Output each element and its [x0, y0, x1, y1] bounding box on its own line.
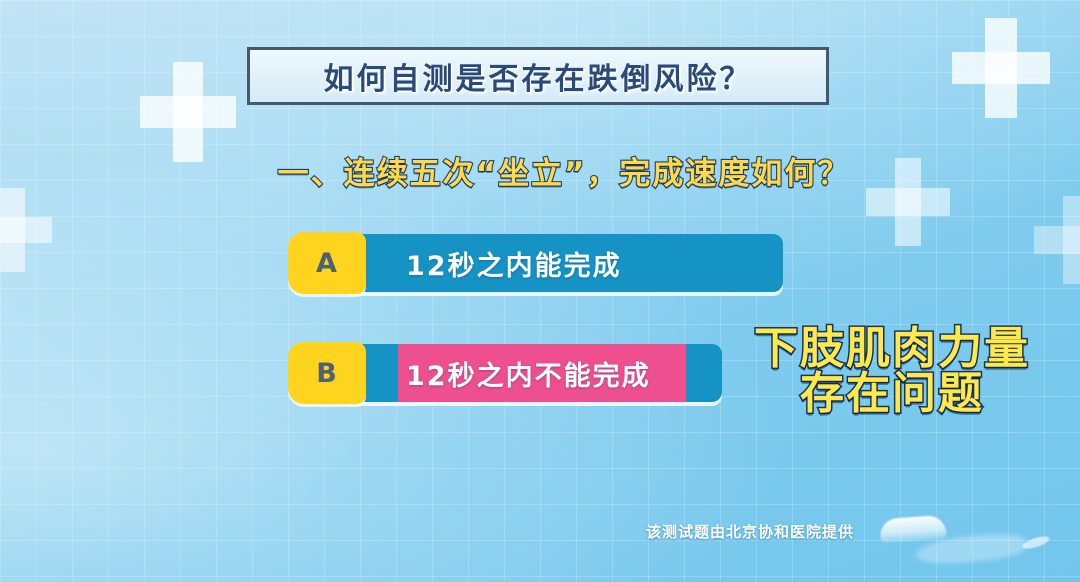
option-bar-b: 12秒之内不能完成	[350, 344, 722, 402]
medical-cross-icon	[0, 188, 52, 272]
answer-line-2: 存在问题	[712, 371, 1072, 416]
medical-cross-icon	[952, 18, 1050, 118]
cloud-shape	[1021, 534, 1050, 551]
source-caption: 该测试题由北京协和医院提供	[560, 521, 940, 542]
option-bar-a: 12秒之内能完成	[350, 234, 783, 292]
answer-line-1: 下肢肌肉力量	[754, 323, 1030, 374]
option-letter-b: B	[316, 358, 338, 389]
medical-cross-icon	[1034, 196, 1080, 284]
option-text-b: 12秒之内不能完成	[406, 344, 651, 402]
option-badge-a: A	[288, 232, 366, 294]
option-row-a[interactable]: A 12秒之内能完成	[288, 232, 783, 294]
medical-cross-icon	[140, 62, 236, 162]
option-row-b[interactable]: B 12秒之内不能完成	[288, 342, 722, 404]
option-text-a: 12秒之内能完成	[406, 234, 622, 292]
slide-canvas: 如何自测是否存在跌倒风险？ 一、连续五次“坐立”，完成速度如何？ A 12秒之内…	[0, 0, 1080, 582]
option-letter-a: A	[316, 248, 338, 279]
question-subtitle: 一、连续五次“坐立”，完成速度如何？	[214, 148, 914, 193]
page-title: 如何自测是否存在跌倒风险？	[324, 54, 753, 98]
answer-callout: 下肢肌肉力量 存在问题	[712, 326, 1072, 417]
option-badge-b: B	[288, 342, 366, 404]
title-box: 如何自测是否存在跌倒风险？	[247, 47, 829, 105]
